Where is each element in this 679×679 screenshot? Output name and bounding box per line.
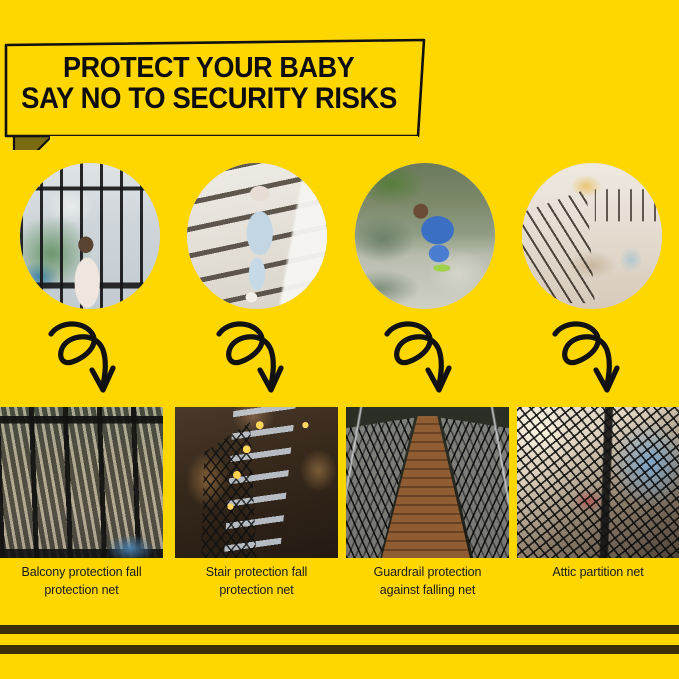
curly-down-arrow-icon (45, 318, 131, 400)
caption-guardrail: Guardrail protection against falling net (346, 563, 509, 599)
headline-banner: PROTECT YOUR BABY SAY NO TO SECURITY RIS… (0, 32, 440, 150)
hazard-photo-row (0, 163, 679, 311)
caption-guardrail-line-2: against falling net (346, 581, 509, 599)
hazard-photo-2-stairs (187, 163, 327, 309)
bottom-stripe-1 (0, 625, 679, 634)
caption-balcony-line-2: protection net (0, 581, 163, 599)
caption-stair: Stair protection fall protection net (175, 563, 338, 599)
curly-down-arrow-icon (549, 318, 635, 400)
hazard-photo-4-loft (522, 163, 662, 309)
attic-net-photo (517, 407, 679, 558)
caption-stair-line-1: Stair protection fall (175, 563, 338, 581)
caption-row: Balcony protection fall protection net S… (0, 563, 679, 613)
balcony-net-photo (0, 407, 163, 558)
banner-ribbon-shape (0, 32, 440, 150)
caption-balcony-line-1: Balcony protection fall (0, 563, 163, 581)
hazard-photo-3-pond (355, 163, 495, 309)
caption-balcony: Balcony protection fall protection net (0, 563, 163, 599)
bottom-stripe-2 (0, 645, 679, 654)
product-photo-row (0, 407, 679, 558)
arrow-row (0, 318, 679, 400)
curly-down-arrow-icon (381, 318, 467, 400)
product-infographic-poster: PROTECT YOUR BABY SAY NO TO SECURITY RIS… (0, 0, 679, 679)
guardrail-net-photo (346, 407, 509, 558)
caption-attic-line-1: Attic partition net (517, 563, 679, 581)
caption-stair-line-2: protection net (175, 581, 338, 599)
banner-body (6, 40, 424, 136)
stair-net-photo (175, 407, 338, 558)
caption-guardrail-line-1: Guardrail protection (346, 563, 509, 581)
banner-fold-icon (14, 136, 52, 150)
curly-down-arrow-icon (213, 318, 299, 400)
hazard-photo-1-balcony (20, 163, 160, 309)
caption-attic: Attic partition net (517, 563, 679, 581)
